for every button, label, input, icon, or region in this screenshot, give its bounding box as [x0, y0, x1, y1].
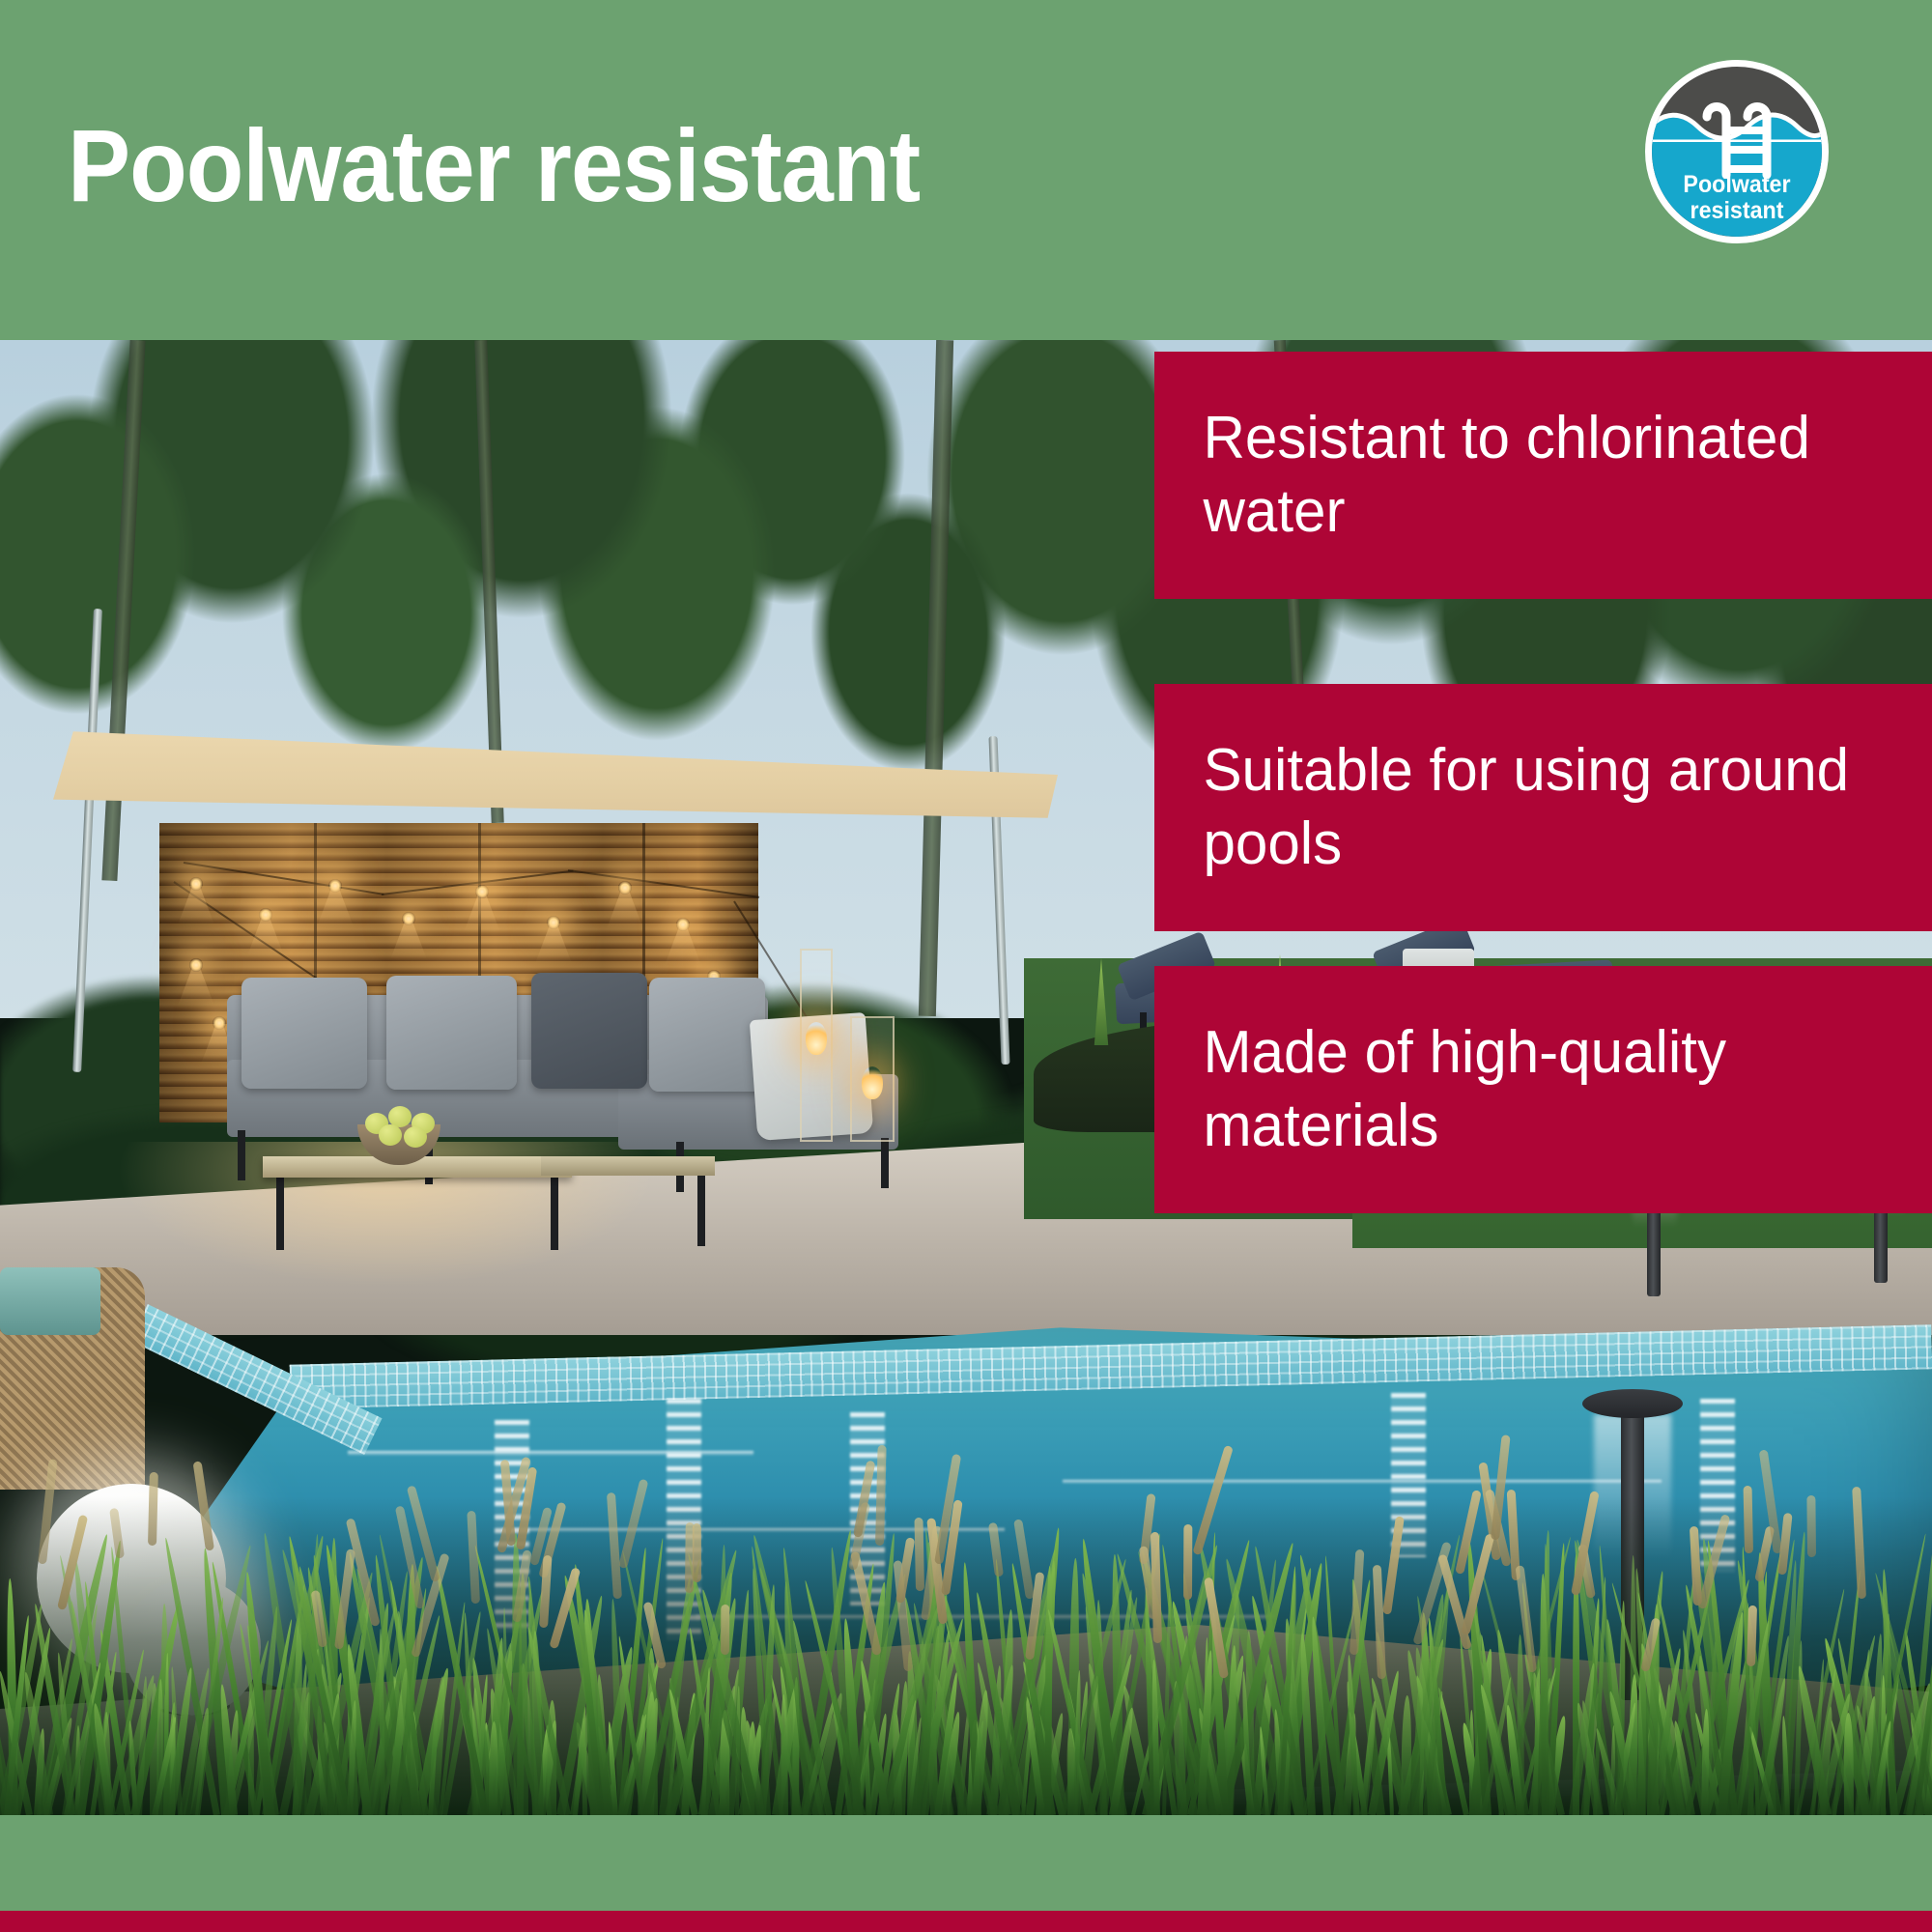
grass-seed-head	[1744, 1486, 1753, 1553]
feature-callout-1[interactable]: Resistant to chlorinated water	[1154, 352, 1932, 599]
grass-seed-head	[1183, 1524, 1192, 1600]
feature-callout-2[interactable]: Suitable for using around pools	[1154, 684, 1932, 931]
string-light-bulb	[189, 877, 203, 891]
candle-flame	[862, 1066, 883, 1099]
chair-cushion	[0, 1267, 100, 1335]
feature-callout-2-text: Suitable for using around pools	[1154, 734, 1909, 880]
grass-seed-head	[721, 1605, 729, 1655]
grass-blade	[489, 1721, 498, 1815]
grass-seed-head	[1806, 1495, 1816, 1557]
page-title: Poolwater resistant	[68, 114, 920, 218]
grass-seed-head	[1747, 1605, 1757, 1667]
string-light-bulb	[189, 958, 203, 972]
feature-callout-3[interactable]: Made of high-quality materials	[1154, 966, 1932, 1213]
table-leg	[551, 1175, 558, 1250]
sofa-cushion	[386, 976, 517, 1090]
footer-green-band	[0, 1815, 1932, 1911]
side-table	[541, 1156, 715, 1176]
grass-seed-head	[685, 1522, 695, 1593]
footer-red-strip	[0, 1911, 1932, 1932]
pool-ladder-icon	[1697, 96, 1776, 179]
table-leg	[276, 1175, 284, 1250]
string-light-bulb	[618, 881, 632, 895]
string-light-bulb	[213, 1016, 226, 1030]
sofa-cushion	[649, 978, 765, 1092]
string-light-bulb	[402, 912, 415, 925]
bollard-light-head-front	[1582, 1389, 1683, 1418]
fruit	[379, 1124, 402, 1146]
sofa-cushion	[241, 978, 367, 1089]
string-light-bulb	[547, 916, 560, 929]
feature-callout-1-text: Resistant to chlorinated water	[1154, 402, 1909, 548]
furniture-leg	[881, 1138, 889, 1188]
grass-seed-head	[914, 1518, 924, 1591]
string-light-bulb	[676, 918, 690, 931]
header-bar: Poolwater resistant	[0, 0, 1932, 340]
poster-canvas: Poolwater resistant Poolwater resistant …	[0, 0, 1932, 1932]
string-light-bulb	[259, 908, 272, 922]
table-leg	[697, 1173, 705, 1246]
feature-callout-3-text: Made of high-quality materials	[1154, 1016, 1909, 1162]
furniture-leg	[238, 1130, 245, 1180]
sofa-cushion-dark	[531, 973, 647, 1089]
water-ripple	[1063, 1480, 1662, 1484]
badge-label-line2: resistant	[1658, 198, 1816, 224]
candle-flame	[806, 1022, 827, 1055]
string-light-bulb	[475, 885, 489, 898]
fruit	[404, 1126, 427, 1148]
string-light-bulb	[328, 879, 342, 893]
badge-label-line1: Poolwater	[1658, 172, 1816, 198]
poolwater-resistant-badge: Poolwater resistant	[1645, 60, 1829, 243]
badge-label: Poolwater resistant	[1658, 172, 1816, 223]
